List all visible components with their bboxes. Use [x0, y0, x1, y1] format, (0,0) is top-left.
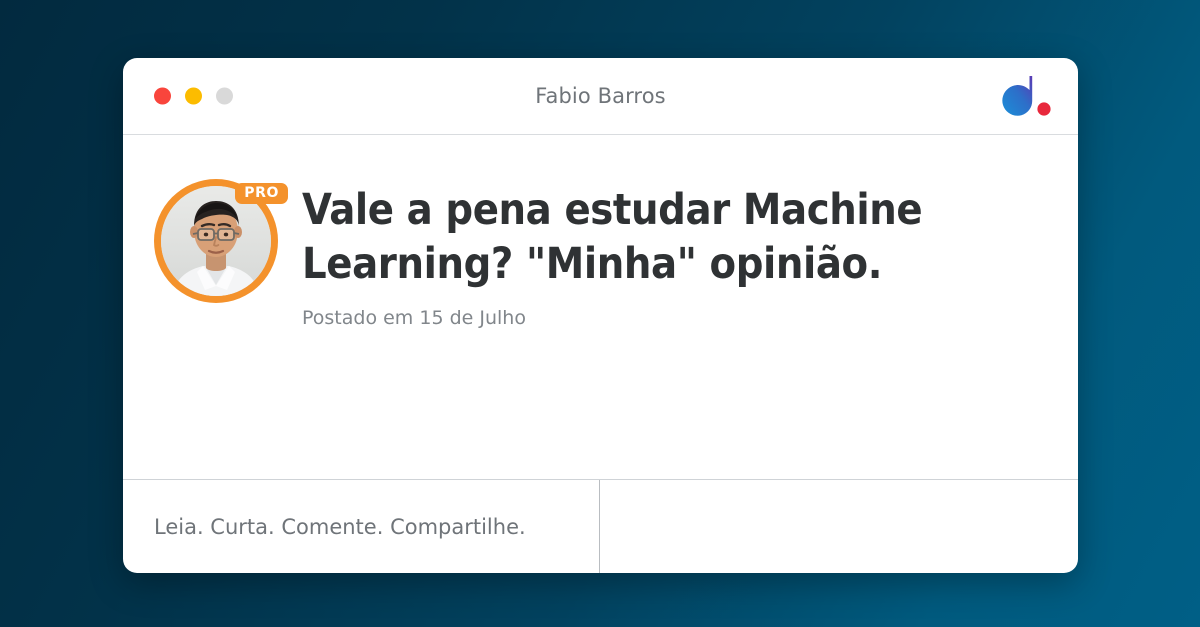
post-date: Postado em 15 de Julho [302, 307, 992, 329]
avatar[interactable]: PRO [154, 179, 278, 303]
window-titlebar: Fabio Barros [123, 58, 1078, 135]
brand-logo-icon [999, 74, 1053, 118]
footer-tagline: Leia. Curta. Comente. Compartilhe. [154, 515, 526, 539]
post-content-area: PRO Vale a pena estudar Machine Learning… [123, 135, 1078, 480]
pro-badge: PRO [235, 183, 288, 204]
post-text-block: Vale a pena estudar Machine Learning? "M… [302, 179, 992, 329]
post-header: PRO Vale a pena estudar Machine Learning… [154, 179, 1038, 329]
footer-right-cell [600, 480, 1078, 573]
post-headline: Vale a pena estudar Machine Learning? "M… [302, 183, 992, 291]
card-footer: Leia. Curta. Comente. Compartilhe. [123, 480, 1078, 573]
window-title: Fabio Barros [123, 84, 1078, 108]
browser-window: Fabio Barros [123, 58, 1078, 573]
footer-left-cell: Leia. Curta. Comente. Compartilhe. [123, 480, 600, 573]
